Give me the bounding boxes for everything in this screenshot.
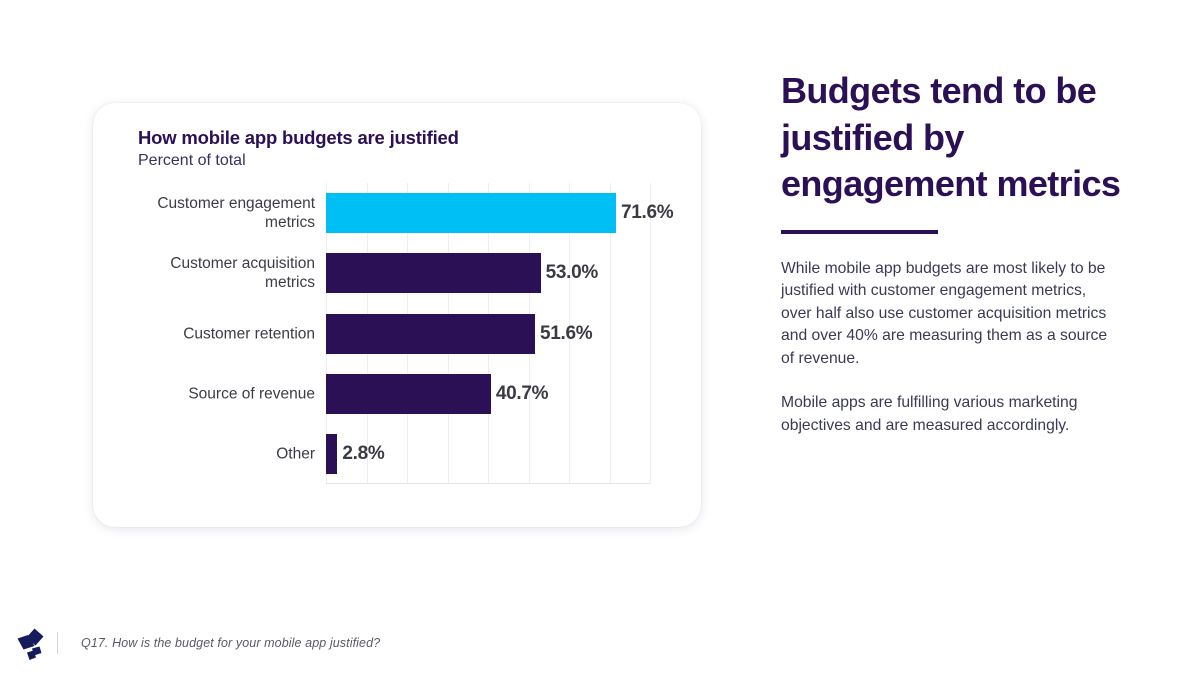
chart-title: How mobile app budgets are justified	[138, 127, 459, 149]
bar-category-label: Customer acquisition metrics	[115, 254, 315, 292]
chart-subtitle: Percent of total	[138, 152, 246, 170]
bar-chart-plot-area: Customer engagement metrics71.6%Customer…	[326, 183, 650, 506]
headline-underline-rule	[781, 230, 938, 234]
bar-value-label: 71.6%	[616, 202, 673, 224]
footer-divider	[57, 632, 58, 654]
panel-headline: Budgets tend to be justified by engageme…	[781, 68, 1121, 208]
bar	[326, 374, 491, 414]
bar-row: Source of revenue40.7%	[326, 374, 650, 414]
bar	[326, 314, 535, 354]
bar-value-label: 2.8%	[337, 443, 384, 465]
bar	[326, 434, 337, 474]
bar	[326, 253, 541, 293]
bar-category-label: Other	[115, 444, 315, 463]
bar-value-label: 53.0%	[541, 262, 598, 284]
bar-category-label: Customer engagement metrics	[115, 194, 315, 232]
bar-value-label: 40.7%	[491, 383, 548, 405]
panel-paragraph-1: While mobile app budgets are most likely…	[781, 258, 1121, 371]
footnote-question: Q17. How is the budget for your mobile a…	[81, 636, 380, 650]
bar-row: Other2.8%	[326, 434, 650, 474]
bar	[326, 193, 616, 233]
x-axis-baseline	[326, 483, 650, 484]
panel-paragraph-2: Mobile apps are fulfilling various marke…	[781, 392, 1121, 437]
bar-row: Customer retention51.6%	[326, 314, 650, 354]
chart-card: How mobile app budgets are justified Per…	[93, 103, 701, 527]
bar-row: Customer acquisition metrics53.0%	[326, 253, 650, 293]
bar-category-label: Source of revenue	[115, 384, 315, 403]
insight-panel: Budgets tend to be justified by engageme…	[781, 68, 1121, 438]
bar-value-label: 51.6%	[535, 323, 592, 345]
bar-row: Customer engagement metrics71.6%	[326, 193, 650, 233]
bar-category-label: Customer retention	[115, 324, 315, 343]
gridline	[650, 183, 651, 484]
butterfly-logo-icon	[14, 624, 54, 666]
